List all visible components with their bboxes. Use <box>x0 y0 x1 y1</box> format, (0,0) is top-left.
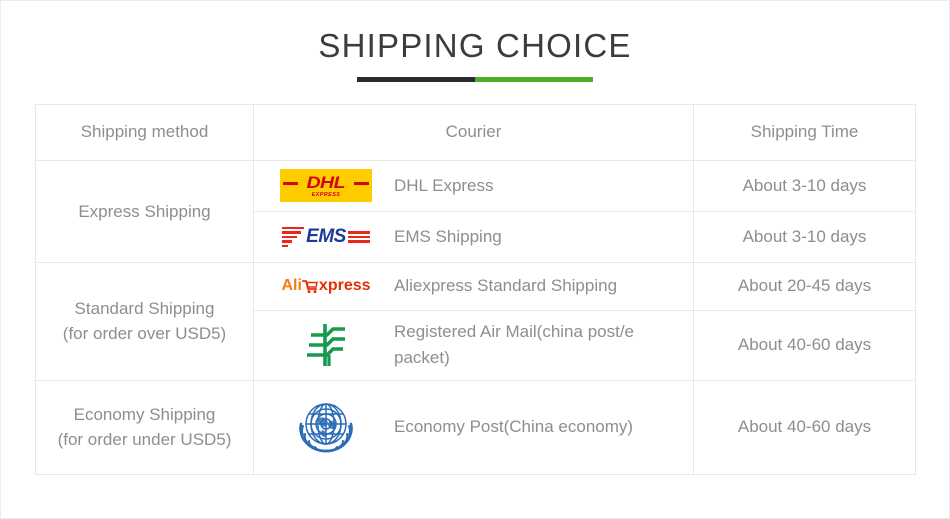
method-label: Express Shipping <box>40 199 249 225</box>
table-row: Economy Shipping (for order under USD5) <box>36 380 916 474</box>
column-header-courier: Courier <box>254 104 694 160</box>
time-cell: About 3-10 days <box>694 211 916 262</box>
china-post-logo <box>303 320 349 370</box>
shipping-choice-page: SHIPPING CHOICE Shipping method Courier … <box>0 0 950 519</box>
ems-stripes-left-icon <box>282 227 304 248</box>
method-cell-standard: Standard Shipping (for order over USD5) <box>36 262 254 380</box>
dhl-logo: DHL EXPRESS <box>280 169 372 202</box>
page-title: SHIPPING CHOICE <box>1 27 949 65</box>
table-row: Express Shipping DHL EXPRESS <box>36 160 916 211</box>
courier-cell-china-post: Registered Air Mail(china post/e packet) <box>254 310 694 380</box>
time-cell: About 40-60 days <box>694 310 916 380</box>
method-cell-express: Express Shipping <box>36 160 254 262</box>
title-underline <box>357 77 593 82</box>
ems-logo: EMS <box>278 222 374 252</box>
dhl-bar-left-icon <box>283 182 298 185</box>
table-body: Express Shipping DHL EXPRESS <box>36 160 916 474</box>
time-cell: About 40-60 days <box>694 380 916 474</box>
courier-label: Economy Post(China economy) <box>394 414 683 440</box>
table-header-row: Shipping method Courier Shipping Time <box>36 104 916 160</box>
courier-cell-dhl: DHL EXPRESS DHL Express <box>254 160 694 211</box>
logo-slot <box>272 399 380 455</box>
method-label: Standard Shipping <box>40 296 249 322</box>
courier-label: DHL Express <box>394 173 683 199</box>
title-underline-green-segment <box>475 77 593 82</box>
logo-slot: EMS <box>272 222 380 252</box>
method-note: (for order over USD5) <box>40 321 249 347</box>
aliexpress-logo-ali-text: Ali <box>281 278 301 294</box>
shipping-table-wrapper: Shipping method Courier Shipping Time Ex… <box>35 104 915 475</box>
dhl-bar-right-icon <box>354 182 369 185</box>
courier-cell-ems: EMS EMS Shipping <box>254 211 694 262</box>
courier-label: EMS Shipping <box>394 224 683 250</box>
aliexpress-logo-xpress-text: xpress <box>319 278 371 294</box>
shipping-table: Shipping method Courier Shipping Time Ex… <box>35 104 916 475</box>
table-header: Shipping method Courier Shipping Time <box>36 104 916 160</box>
ems-stripes-right-icon <box>348 231 370 243</box>
logo-slot: Ali xpress <box>272 278 380 294</box>
table-row: Standard Shipping (for order over USD5) … <box>36 262 916 310</box>
logo-slot <box>272 320 380 370</box>
column-header-shipping-method: Shipping method <box>36 104 254 160</box>
courier-cell-economy-post: Economy Post(China economy) <box>254 380 694 474</box>
method-label: Economy Shipping <box>40 402 249 428</box>
courier-label: Aliexpress Standard Shipping <box>394 273 683 299</box>
shopping-cart-icon <box>302 279 319 294</box>
ems-logo-text: EMS <box>306 227 346 246</box>
dhl-logo-subtext: EXPRESS <box>312 193 341 199</box>
united-nations-logo <box>295 399 357 455</box>
aliexpress-logo: Ali xpress <box>281 278 370 294</box>
column-header-shipping-time: Shipping Time <box>694 104 916 160</box>
time-cell: About 20-45 days <box>694 262 916 310</box>
courier-cell-aliexpress: Ali xpress Ali <box>254 262 694 310</box>
title-block: SHIPPING CHOICE <box>1 1 949 82</box>
logo-slot: DHL EXPRESS <box>272 169 380 202</box>
title-underline-dark-segment <box>357 77 475 82</box>
time-cell: About 3-10 days <box>694 160 916 211</box>
dhl-logo-text: DHL <box>307 174 345 191</box>
courier-label: Registered Air Mail(china post/e packet) <box>394 319 683 372</box>
method-note: (for order under USD5) <box>40 427 249 453</box>
method-cell-economy: Economy Shipping (for order under USD5) <box>36 380 254 474</box>
